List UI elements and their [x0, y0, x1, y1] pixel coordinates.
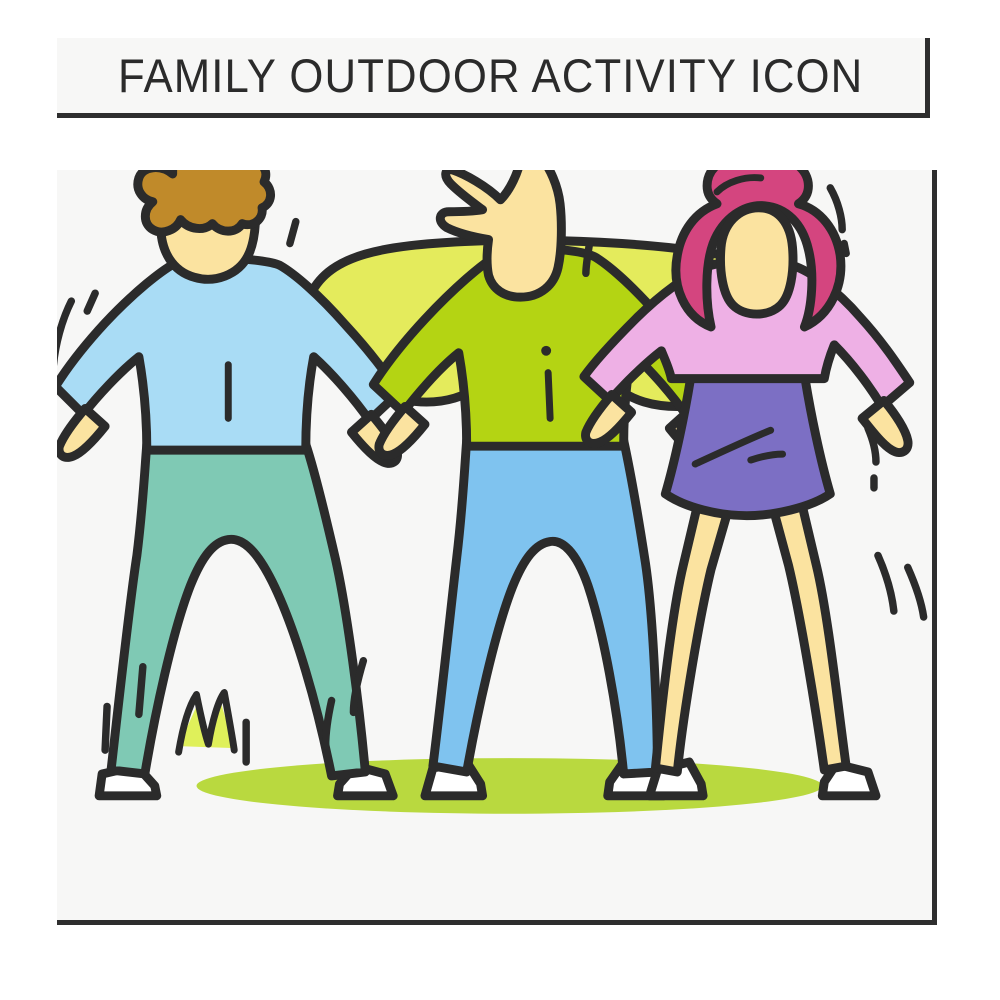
right-woman-motion-line-6 [908, 567, 924, 617]
illustration-panel [57, 170, 937, 925]
center-man-shirt-dot [541, 346, 551, 356]
title-box: FAMILY OUTDOOR ACTIVITY ICON [57, 38, 930, 118]
center-man-motion-line-1 [586, 242, 590, 274]
left-boy-hand-left [59, 408, 105, 457]
right-woman-leg-left [655, 490, 732, 772]
family-outdoor-activity-illustration [57, 170, 932, 920]
left-boy-hair [138, 170, 271, 232]
center-man-shirt-crease [548, 373, 550, 419]
left-boy-motion-line-1 [57, 301, 71, 365]
left-boy-motion-line-3 [290, 222, 296, 244]
center-man-hand-left [379, 406, 425, 455]
right-woman-leg-right [769, 490, 846, 770]
center-man-jeans [433, 440, 658, 774]
left-boy-motion-line-5 [105, 706, 107, 750]
left-boy-motion-line-4 [139, 667, 143, 715]
grass-ellipse [196, 758, 822, 814]
left-boy-motion-line-2 [87, 293, 95, 311]
right-woman-face [720, 208, 793, 314]
right-woman-motion-line-2 [844, 244, 846, 254]
right-woman-skirt [665, 375, 830, 516]
grass-tuft [179, 693, 247, 763]
page-title: FAMILY OUTDOOR ACTIVITY ICON [118, 48, 863, 103]
right-woman-motion-line-5 [878, 555, 894, 611]
page-root: FAMILY OUTDOOR ACTIVITY ICON [0, 0, 1000, 1000]
